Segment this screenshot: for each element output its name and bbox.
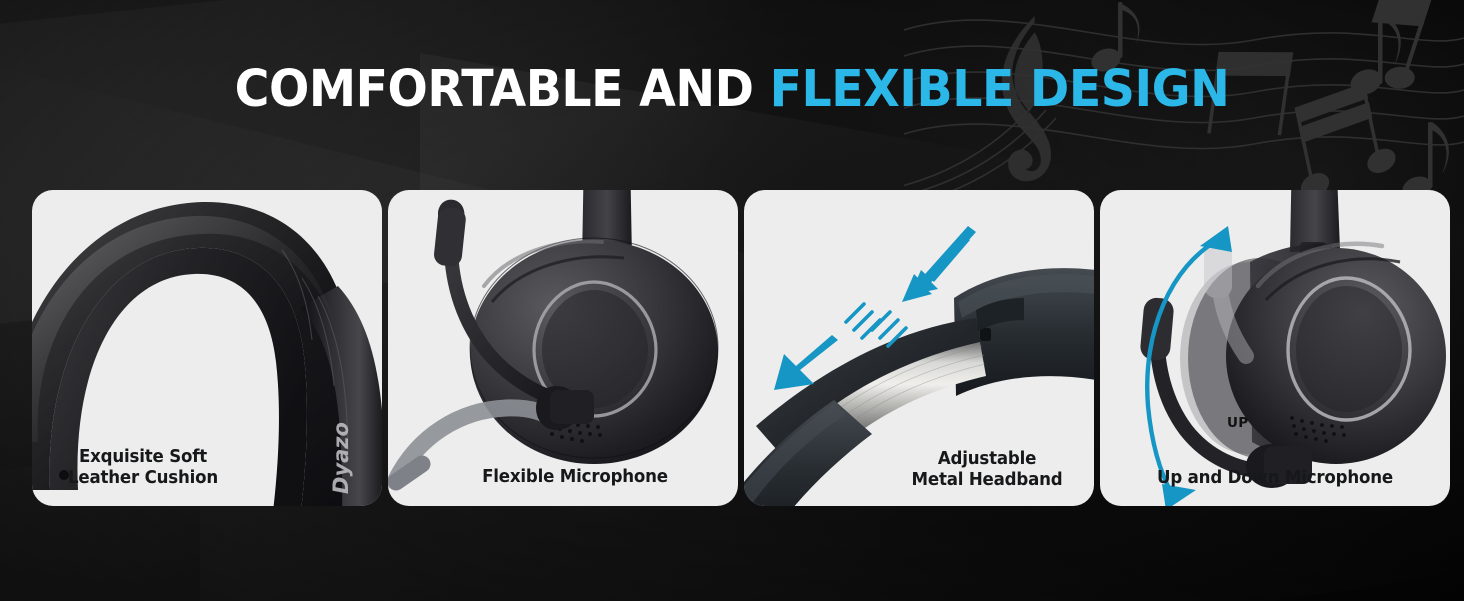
- feature-card-metal-headband[interactable]: Adjustable Metal Headband: [744, 190, 1094, 506]
- title-part-accent: FLEXIBLE DESIGN: [770, 60, 1230, 119]
- card-caption-leather-cushion: Exquisite Soft Leather Cushion: [32, 447, 309, 490]
- caption-line-1: Flexible Microphone: [409, 467, 738, 489]
- flexible-microphone-illustration: [388, 190, 738, 506]
- feature-card-flexible-microphone[interactable]: Flexible Microphone: [388, 190, 738, 506]
- card-caption-flexible-microphone: Flexible Microphone: [409, 467, 738, 489]
- feature-card-leather-cushion[interactable]: Dyazo Exquisite Soft Leather Cushion: [32, 190, 382, 506]
- feature-card-up-down-microphone[interactable]: UP DOWN Up and Down Microphone: [1100, 190, 1450, 506]
- title-part-white: COMFORTABLE AND: [235, 60, 770, 119]
- product-feature-banner: COMFORTABLE AND FLEXIBLE DESIGN: [0, 0, 1464, 601]
- caption-line-1: Up and Down Microphone: [1109, 468, 1442, 490]
- caption-line-2: Leather Cushion: [32, 468, 309, 490]
- banner-title: COMFORTABLE AND FLEXIBLE DESIGN: [51, 64, 1413, 115]
- up-down-microphone-illustration: [1100, 190, 1450, 506]
- svg-text:Dyazo: Dyazo: [329, 422, 353, 494]
- card-caption-metal-headband: Adjustable Metal Headband: [821, 449, 1094, 492]
- caption-line-1: Adjustable: [821, 449, 1094, 471]
- label-up: UP: [1227, 415, 1248, 431]
- caption-line-2: Metal Headband: [821, 470, 1094, 492]
- card-caption-up-down-microphone: Up and Down Microphone: [1109, 468, 1442, 490]
- caption-line-1: Exquisite Soft: [32, 447, 309, 469]
- feature-card-row: Dyazo Exquisite Soft Leather Cushion: [32, 190, 1450, 506]
- extend-arrow-up-right: [902, 226, 976, 302]
- extend-arrow-down-left-trails: [846, 304, 880, 338]
